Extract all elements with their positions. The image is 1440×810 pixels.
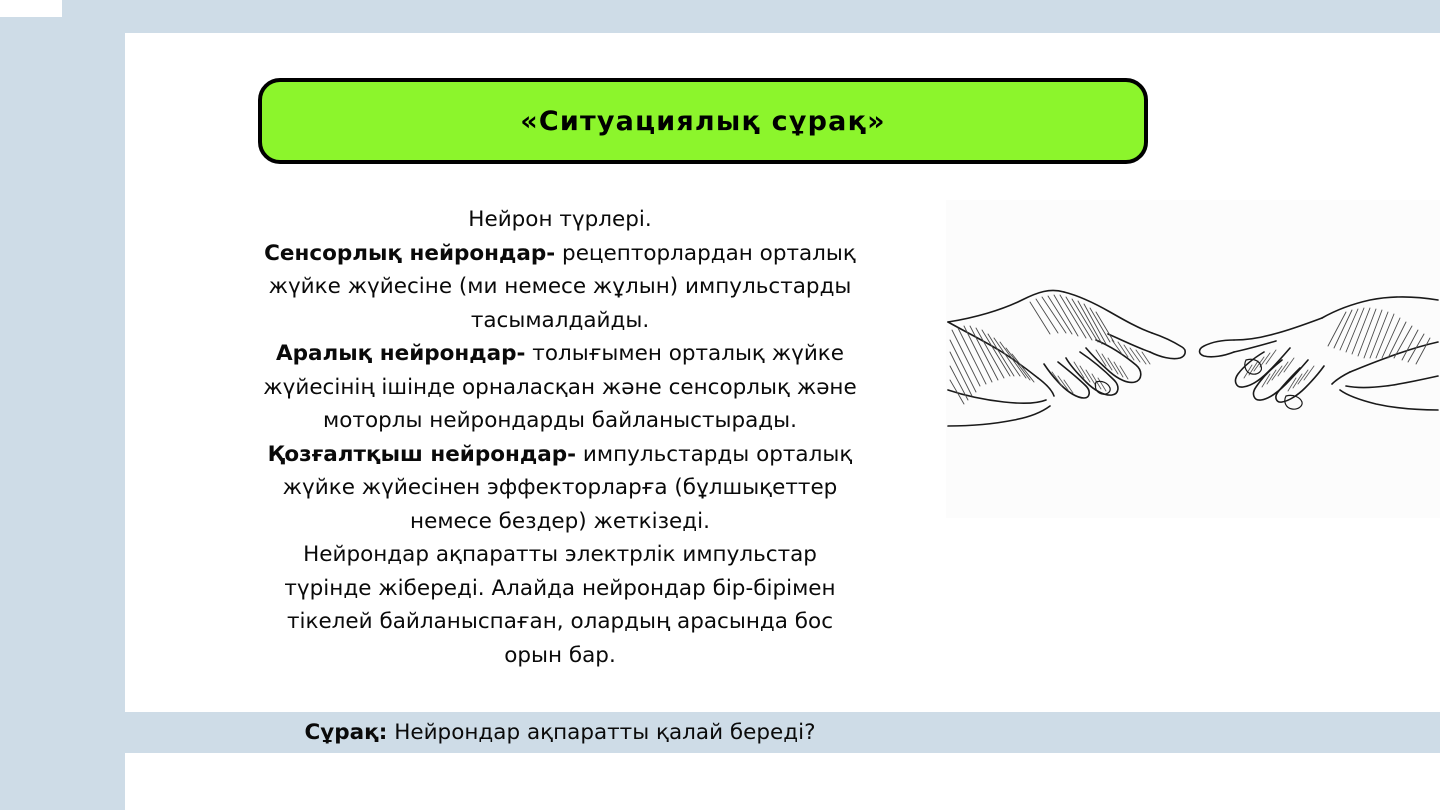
body-line-motor-1: Қозғалтқыш нейрондар- импульстарды ортал… (170, 438, 950, 472)
title-banner: «Ситуациялық сұрақ» (258, 78, 1148, 164)
body-line-sensory-1: Сенсорлық нейрондар- рецепторлардан орта… (170, 237, 950, 271)
body-line-closing-4: орын бар. (170, 639, 950, 673)
body-line-closing-3: тікелей байланыспаған, олардың арасында … (170, 605, 950, 639)
page-title: «Ситуациялық сұрақ» (520, 108, 886, 135)
body-line-interneuron-1-rest: толығымен орталық жүйке (525, 341, 844, 366)
body-line-sensory-1-rest: рецепторлардан орталық (555, 241, 856, 266)
body-text-block: Нейрон түрлері. Сенсорлық нейрондар- рец… (170, 203, 950, 672)
body-line-interneuron-1: Аралық нейрондар- толығымен орталық жүйк… (170, 337, 950, 371)
body-line-interneuron-3: моторлы нейрондарды байланыстырады. (170, 404, 950, 438)
body-line-closing-2: түрінде жібереді. Алайда нейрондар бір-б… (170, 572, 950, 606)
question-label: Сұрақ: (304, 720, 387, 745)
term-interneurons: Аралық нейрондар- (276, 341, 526, 366)
question-text: Сұрақ: Нейрондар ақпаратты қалай береді? (170, 722, 950, 744)
term-sensory-neurons: Сенсорлық нейрондар- (264, 241, 555, 266)
term-motor-neurons: Қозғалтқыш нейрондар- (268, 442, 576, 467)
question-band: Сұрақ: Нейрондар ақпаратты қалай береді? (0, 712, 1440, 753)
body-line-motor-1-rest: импульстарды орталық (576, 442, 852, 467)
top-left-white-notch (0, 0, 62, 17)
body-line-motor-3: немесе бездер) жеткізеді. (170, 505, 950, 539)
body-line-motor-2: жүйке жүйесінен эффекторларға (бұлшықетт… (170, 471, 950, 505)
body-line-sensory-2: жүйке жүйесіне (ми немесе жұлын) импульс… (170, 270, 950, 304)
question-body: Нейрондар ақпаратты қалай береді? (387, 720, 815, 745)
body-line-closing-1: Нейрондар ақпаратты электрлік импульстар (170, 538, 950, 572)
slide: «Ситуациялық сұрақ» Нейрон түрлері. Сенс… (0, 0, 1440, 810)
body-line-heading: Нейрон түрлері. (170, 203, 950, 237)
body-line-interneuron-2: жүйесінің ішінде орналасқан және сенсорл… (170, 371, 950, 405)
two-hands-reaching-line-art-icon (946, 200, 1440, 518)
body-line-sensory-3: тасымалдайды. (170, 304, 950, 338)
